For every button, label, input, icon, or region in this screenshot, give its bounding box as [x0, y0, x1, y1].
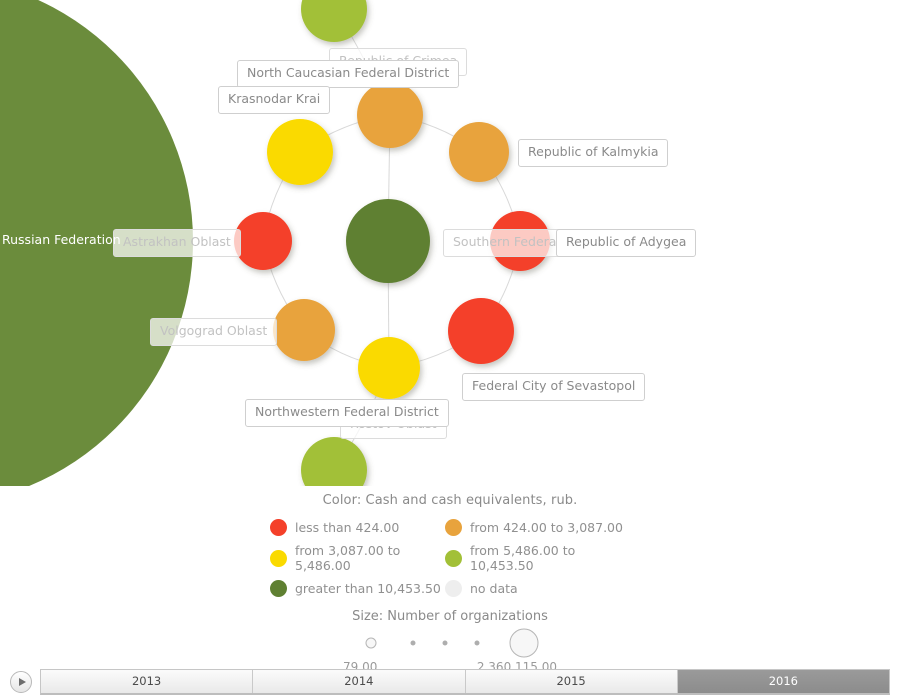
color-swatch-icon	[445, 519, 462, 536]
bubble-circle[interactable]	[449, 122, 509, 182]
color-swatch-icon	[445, 550, 462, 567]
size-circle-max	[510, 629, 539, 658]
color-swatch-icon	[270, 550, 287, 567]
color-legend-title: Color: Cash and cash equivalents, rub.	[0, 493, 900, 508]
size-circle-dot-3	[475, 641, 480, 646]
bubble-rostov-oblast[interactable]	[358, 337, 420, 399]
color-swatch-icon	[445, 580, 462, 597]
node-label-northwestern-federal-district[interactable]: Northwestern Federal District	[245, 399, 449, 427]
color-legend-list: less than 424.00from 424.00 to 3,087.00f…	[270, 519, 630, 597]
color-legend-label: greater than 10,453.50	[295, 581, 441, 596]
color-legend-item[interactable]: from 5,486.00 to 10,453.50	[445, 543, 630, 573]
play-icon	[19, 678, 26, 686]
node-label-volgograd-oblast[interactable]: Volgograd Oblast	[150, 318, 277, 346]
node-label-north-caucasian-federal-district[interactable]: North Caucasian Federal District	[237, 60, 459, 88]
bubble-northwestern-federal-district[interactable]	[301, 437, 367, 486]
size-legend-circles	[355, 630, 545, 656]
bubble-circle[interactable]	[346, 199, 430, 283]
bubble-circle[interactable]	[267, 119, 333, 185]
legend-panel: Color: Cash and cash equivalents, rub. l…	[0, 486, 900, 656]
chart-canvas[interactable]: Russian FederationSouthern Federal Distr…	[0, 0, 900, 486]
bubble-chart-app: Russian FederationSouthern Federal Distr…	[0, 0, 900, 700]
play-button[interactable]	[10, 671, 32, 693]
node-label-federal-city-of-sevastopol[interactable]: Federal City of Sevastopol	[462, 373, 645, 401]
bubble-north-caucasian-federal-district[interactable]	[357, 82, 423, 148]
bubble-circle[interactable]	[301, 437, 367, 486]
bubble-krasnodar-krai[interactable]	[267, 119, 333, 185]
bubble-circle[interactable]	[273, 299, 335, 361]
bubble-astrakhan-oblast[interactable]	[234, 212, 292, 270]
node-label-republic-of-adygea[interactable]: Republic of Adygea	[556, 229, 696, 257]
timeline-control[interactable]: 2013201420152016	[0, 663, 900, 700]
node-label-astrakhan-oblast[interactable]: Astrakhan Oblast	[113, 229, 241, 257]
bubble-circle[interactable]	[358, 337, 420, 399]
bubble-republic-of-crimea[interactable]	[301, 0, 367, 42]
bubble-southern-federal-district[interactable]	[346, 199, 430, 283]
bubble-circle[interactable]	[357, 82, 423, 148]
year-cell-2016[interactable]: 2016	[678, 670, 889, 693]
color-legend-item[interactable]: greater than 10,453.50	[270, 580, 445, 597]
size-circle-dot-1	[411, 641, 416, 646]
bubble-circle[interactable]	[234, 212, 292, 270]
color-legend-label: less than 424.00	[295, 520, 399, 535]
color-legend-item[interactable]: no data	[445, 580, 630, 597]
color-legend-item[interactable]: from 424.00 to 3,087.00	[445, 519, 630, 536]
color-legend-label: no data	[470, 581, 518, 596]
bubble-volgograd-oblast[interactable]	[273, 299, 335, 361]
bubble-circle[interactable]	[448, 298, 514, 364]
color-legend-label: from 424.00 to 3,087.00	[470, 520, 623, 535]
node-label-republic-of-kalmykia[interactable]: Republic of Kalmykia	[518, 139, 668, 167]
color-legend-item[interactable]: from 3,087.00 to 5,486.00	[270, 543, 445, 573]
color-legend-item[interactable]: less than 424.00	[270, 519, 445, 536]
node-label-russian-federation[interactable]: Russian Federation	[2, 234, 121, 247]
bubble-republic-of-kalmykia[interactable]	[449, 122, 509, 182]
size-legend-title: Size: Number of organizations	[0, 609, 900, 624]
year-track[interactable]: 2013201420152016	[40, 669, 890, 695]
node-label-krasnodar-krai[interactable]: Krasnodar Krai	[218, 86, 330, 114]
size-circle-min	[366, 638, 377, 649]
color-swatch-icon	[270, 519, 287, 536]
color-legend-label: from 5,486.00 to 10,453.50	[470, 543, 630, 573]
year-cell-2015[interactable]: 2015	[466, 670, 678, 693]
year-cell-2013[interactable]: 2013	[41, 670, 253, 693]
year-cell-2014[interactable]: 2014	[253, 670, 465, 693]
color-legend-label: from 3,087.00 to 5,486.00	[295, 543, 445, 573]
color-swatch-icon	[270, 580, 287, 597]
bubble-circle[interactable]	[301, 0, 367, 42]
bubble-federal-city-of-sevastopol[interactable]	[448, 298, 514, 364]
size-circle-dot-2	[443, 641, 448, 646]
